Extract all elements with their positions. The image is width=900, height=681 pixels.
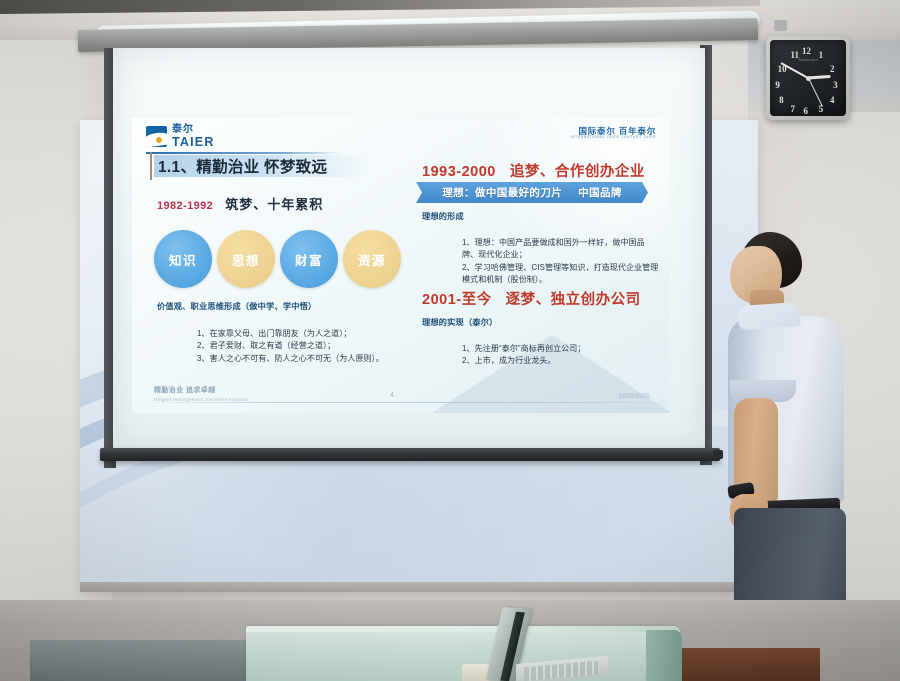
title-tick-mark [150,152,152,180]
ideal-realization-item: 1、先注册“泰尔”商标再创立公司； [462,343,660,355]
taier-wave-mark-icon [146,126,167,147]
taier-logo: 泰尔 TAIER [146,125,215,149]
concept-circles: 知识 思想 财富 资源 [154,230,401,288]
values-item: 1、在家靠父母、出门靠朋友（为人之道）； [197,328,384,340]
period-1982-heading: 1982-1992 筑梦、十年累积 [157,194,323,213]
circle-knowledge: 知识 [154,230,212,288]
circle-resource: 资源 [343,230,401,288]
period-2001-years: 2001-至今 [422,288,492,309]
ideal-formation-list: 1、理想：中国产品要做成和国外一样好，做中国品牌、现代化企业； 2、学习哈佛管理… [422,237,660,287]
values-item: 3、害人之心不可有、防人之心不可无（为人原则）。 [197,353,384,365]
slide-tagline: 国际泰尔 百年泰尔 INTERNATIONAL TAIER CENTURY TA… [570,127,656,140]
clock-numeral-7: 7 [791,104,796,114]
light-clip [774,20,787,31]
period-1993-heading: 1993-2000 追梦、合作创办企业 [422,160,645,181]
ideal-realization-list: 1、先注册“泰尔”商标再创立公司； 2、上市，成为行业龙头。 [422,343,660,368]
period-1993-years: 1993-2000 [422,164,496,180]
person-shirt-collar [737,302,801,330]
person-ear [765,269,777,285]
clock-numeral-11: 11 [791,50,800,60]
clock-hour-hand [808,75,830,80]
projector-screen-bottom-bar[interactable] [100,448,720,461]
clock-numeral-2: 2 [830,64,835,74]
clock-brand: Telesound [798,58,818,62]
clock-numeral-1: 1 [819,50,824,60]
ideal-banner-right-text: 中国品牌 [578,185,622,200]
clock-numeral-9: 9 [775,80,780,90]
clock-center-pin [806,76,811,81]
clock-numeral-12: 12 [802,46,811,56]
slide-footer-english: Diligent management, Excellence pursuit [154,397,249,402]
slide-title: 1.1、精勤治业 怀梦致远 [158,155,327,177]
slide-page-number: 4 [390,392,394,399]
podium-top-edge [246,626,680,632]
logo-chinese: 泰尔 [172,125,215,135]
values-item: 2、君子爱财、取之有道（经营之道）； [197,340,384,352]
slide-footer-rule [132,402,670,403]
ideal-realization-item: 2、上市，成为行业龙头。 [462,355,660,367]
title-rule [146,152,342,154]
slide-footer-chinese: 精勤治业 追求卓越 [154,385,216,395]
period-1982-years: 1982-1992 [157,200,213,212]
clock-numeral-3: 3 [833,80,838,90]
values-heading: 价值观、职业思维形成（做中学、学中悟） [157,300,316,312]
circle-thought: 思想 [217,230,275,288]
clock-numeral-4: 4 [830,95,835,105]
ideal-formation-item: 2、学习哈佛管理、CIS管理等知识，打造现代企业管理模式和机制（股份制）。 [462,262,660,287]
circle-wealth: 财富 [280,230,338,288]
ideal-formation-heading: 理想的形成 [422,210,464,222]
wall-clock: Telesound 12 1 2 3 4 5 6 7 8 9 10 11 [766,36,850,120]
tagline-english: INTERNATIONAL TAIER CENTURY TAIER [570,136,656,140]
ideal-arrow-banner: 理想：做中国最好的刀片 中国品牌 [416,182,648,203]
lecture-room-photo: School of Mechanical and Power Engineeri… [0,0,900,681]
logo-english: TAIER [172,136,215,149]
values-list: 1、在家靠父母、出门靠朋友（为人之道）； 2、君子爱财、取之有道（经营之道）； … [157,328,384,365]
period-1982-phrase: 筑梦、十年累积 [225,194,323,213]
podium-left-panel [30,640,246,681]
clock-second-hand [808,78,823,107]
ideal-formation-item: 1、理想：中国产品要做成和国外一样好，做中国品牌、现代化企业； [462,237,660,262]
clock-numeral-8: 8 [779,95,784,105]
clock-face: Telesound 12 1 2 3 4 5 6 7 8 9 10 11 [770,40,846,116]
wooden-table-edge [680,648,820,681]
podium-side-panel [646,630,682,681]
ideal-realization-heading: 理想的实现（泰尔） [422,316,498,328]
mural-bottom-edge [80,582,758,592]
period-2001-heading: 2001-至今 逐梦、独立创办公司 [422,288,641,309]
projected-slide: 泰尔 TAIER 国际泰尔 百年泰尔 INTERNATIONAL TAIER C… [132,118,670,413]
period-1993-phrase: 追梦、合作创办企业 [510,160,645,181]
ideal-banner-left-text: 理想：做中国最好的刀片 [442,185,562,200]
period-2001-phrase: 逐梦、独立创办公司 [506,288,641,309]
slide-date: 2020/5/20 [618,393,650,400]
taier-logo-text: 泰尔 TAIER [172,125,215,149]
clock-numeral-6: 6 [803,106,808,116]
